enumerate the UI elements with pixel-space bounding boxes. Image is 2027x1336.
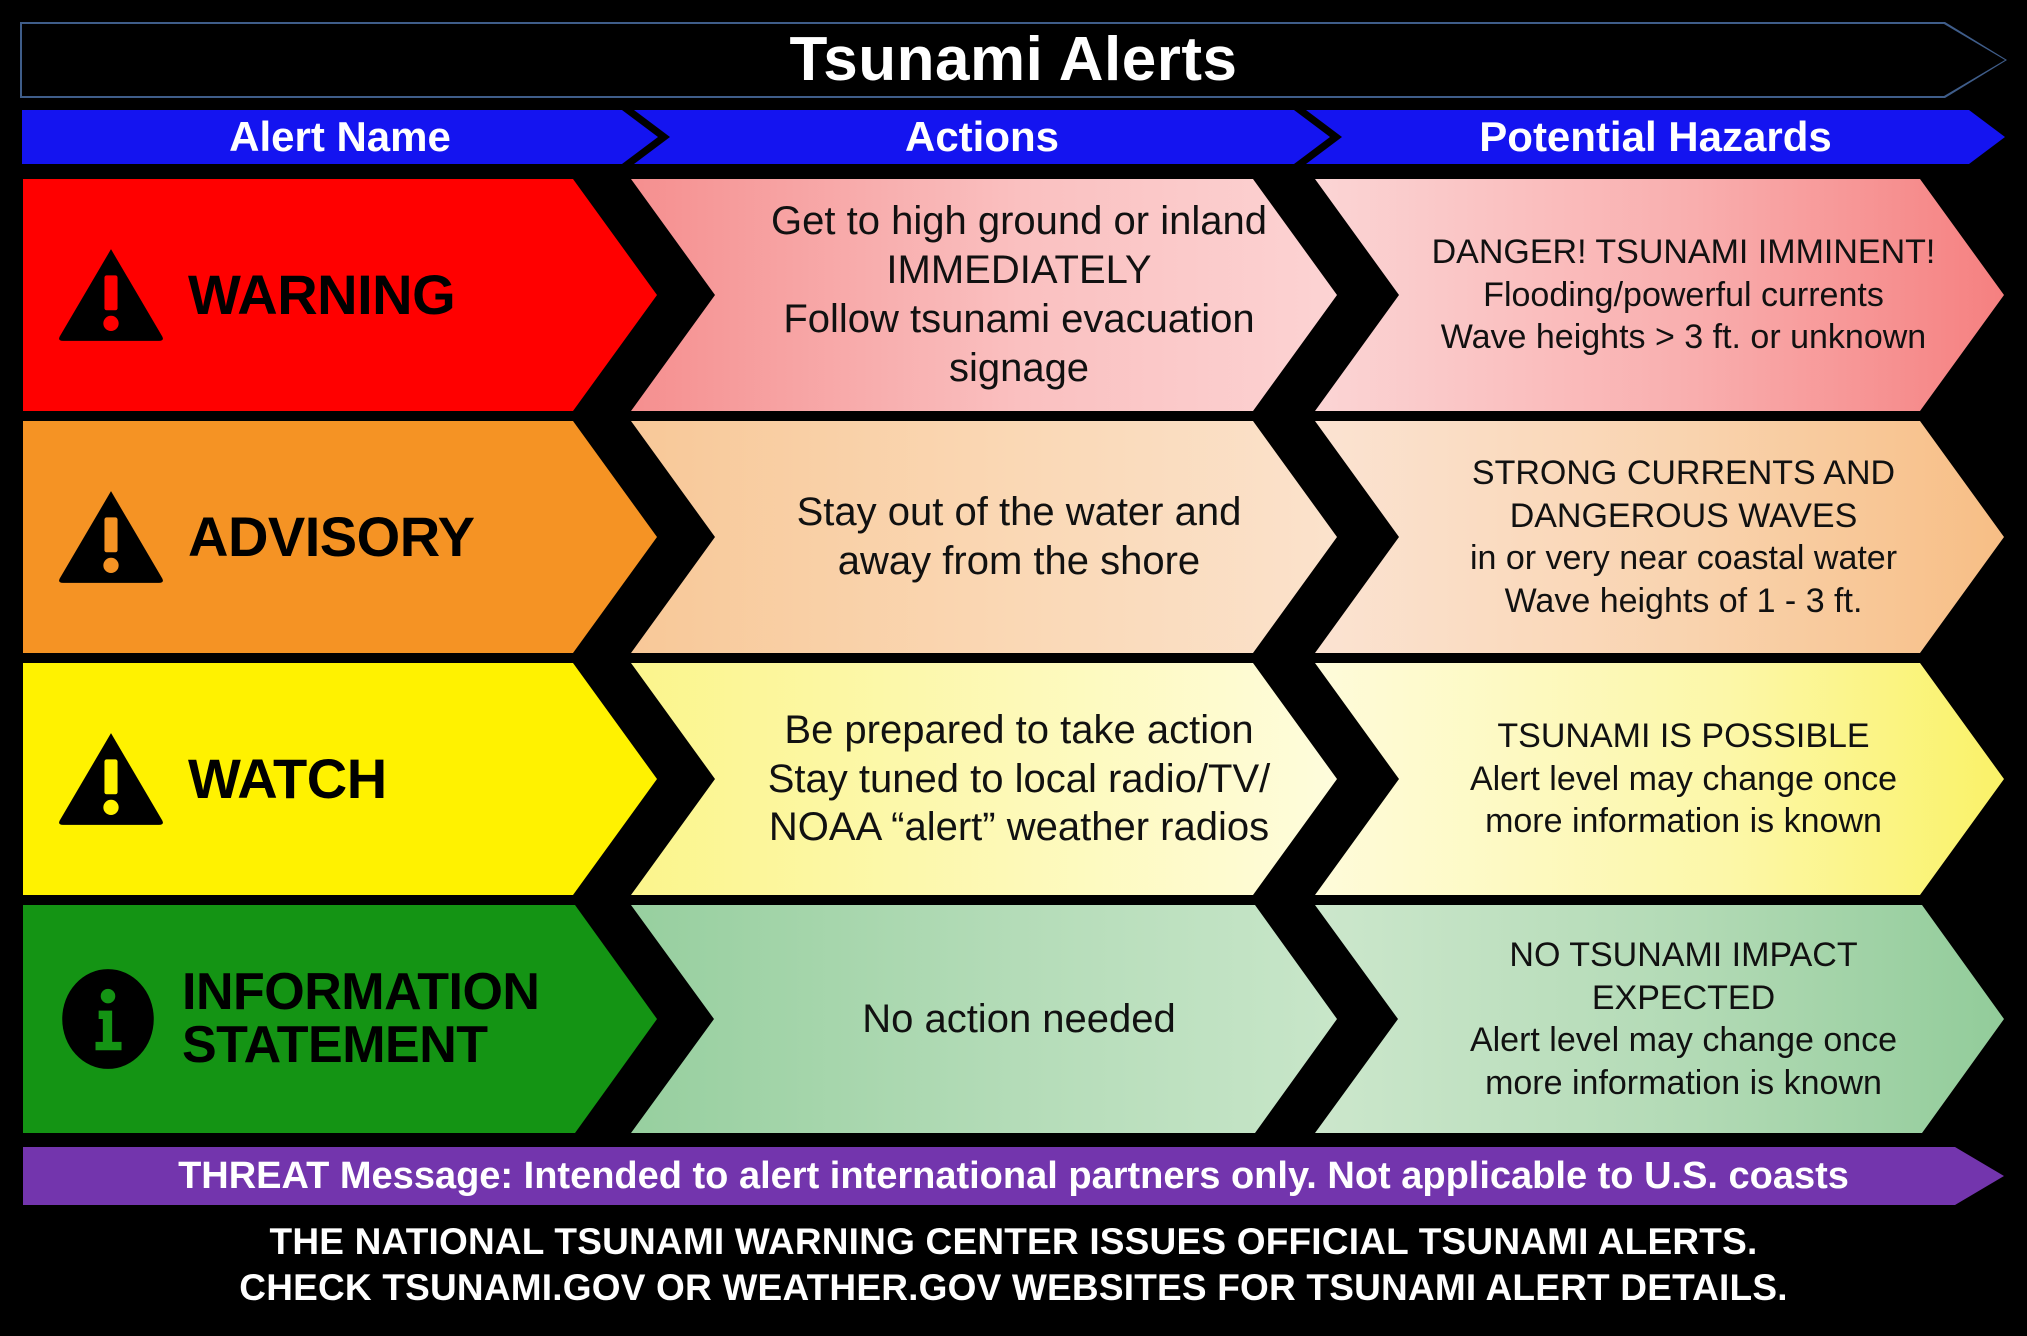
hazards-line: Flooding/powerful currents <box>1416 274 1951 317</box>
alert-name-label: WARNING <box>188 266 455 323</box>
column-header-actions: Actions <box>632 108 1332 166</box>
actions-line: Stay out of the water and <box>728 488 1310 537</box>
alert-row: ADVISORYStay out of the water andaway fr… <box>20 418 2007 656</box>
column-header-potential-hazards: Potential Hazards <box>1304 108 2007 166</box>
hazards-cell: NO TSUNAMI IMPACT EXPECTEDAlert level ma… <box>1312 902 2007 1136</box>
actions-inner: Be prepared to take actionStay tuned to … <box>628 706 1340 852</box>
footer-text: THE NATIONAL TSUNAMI WARNING CENTER ISSU… <box>239 1219 1787 1312</box>
warning-triangle-icon <box>56 247 166 343</box>
alert-name-cell: ADVISORY <box>20 418 660 656</box>
hazards-line: more information is known <box>1416 1062 1951 1105</box>
alert-row: INFORMATIONSTATEMENTNo action neededNO T… <box>20 902 2007 1136</box>
actions-line: Be prepared to take action <box>728 706 1310 755</box>
actions-text: No action needed <box>628 995 1340 1044</box>
alert-name-label: ADVISORY <box>188 508 474 565</box>
alert-name-inner: WATCH <box>20 731 660 827</box>
hazards-inner: DANGER! TSUNAMI IMMINENT!Flooding/powerf… <box>1312 231 2007 359</box>
actions-line: away from the shore <box>728 537 1310 586</box>
actions-line: Follow tsunami evacuation signage <box>728 295 1310 393</box>
footer-banner: THE NATIONAL TSUNAMI WARNING CENTER ISSU… <box>20 1216 2007 1314</box>
hazards-text: STRONG CURRENTS ANDDANGEROUS WAVESin or … <box>1312 452 2007 622</box>
hazards-inner: TSUNAMI IS POSSIBLEAlert level may chang… <box>1312 715 2007 843</box>
hazards-line: Alert level may change once <box>1416 758 1951 801</box>
column-header-alert-name: Alert Name <box>20 108 660 166</box>
hazards-line: Wave heights > 3 ft. or unknown <box>1416 316 1951 359</box>
information-circle-icon <box>56 967 160 1071</box>
threat-message-text: THREAT Message: Intended to alert intern… <box>178 1157 1849 1195</box>
column-header-row: Alert Name Actions Potential Hazards <box>20 108 2007 166</box>
alert-name-cell: WATCH <box>20 660 660 898</box>
alert-rows-container: WARNINGGet to high ground or inlandIMMED… <box>20 176 2007 1136</box>
alert-name-label: WATCH <box>188 750 387 807</box>
hazards-line: NO TSUNAMI IMPACT EXPECTED <box>1416 934 1951 1019</box>
warning-triangle-icon <box>56 489 166 585</box>
column-header-label: Actions <box>905 116 1059 158</box>
hazards-cell: STRONG CURRENTS ANDDANGEROUS WAVESin or … <box>1312 418 2007 656</box>
actions-line: Stay tuned to local radio/TV/ <box>728 755 1310 804</box>
actions-line: No action needed <box>728 995 1310 1044</box>
hazards-line: DANGEROUS WAVES <box>1416 495 1951 538</box>
actions-inner: No action needed <box>628 995 1340 1044</box>
column-header-label: Potential Hazards <box>1479 116 1831 158</box>
title-banner: Tsunami Alerts <box>20 22 2007 98</box>
warning-triangle-icon <box>56 731 166 827</box>
hazards-line: STRONG CURRENTS AND <box>1416 452 1951 495</box>
page-title: Tsunami Alerts <box>790 29 1238 91</box>
alert-name-inner: INFORMATIONSTATEMENT <box>20 966 660 1072</box>
actions-cell: Get to high ground or inlandIMMEDIATELYF… <box>628 176 1340 414</box>
actions-text: Get to high ground or inlandIMMEDIATELYF… <box>628 197 1340 392</box>
alert-name-inner: WARNING <box>20 247 660 343</box>
hazards-line: TSUNAMI IS POSSIBLE <box>1416 715 1951 758</box>
actions-inner: Get to high ground or inlandIMMEDIATELYF… <box>628 197 1340 392</box>
actions-text: Stay out of the water andaway from the s… <box>628 488 1340 586</box>
hazards-line: more information is known <box>1416 800 1951 843</box>
footer-line-1: THE NATIONAL TSUNAMI WARNING CENTER ISSU… <box>239 1219 1787 1265</box>
threat-message-banner: THREAT Message: Intended to alert intern… <box>20 1144 2007 1208</box>
actions-line: Get to high ground or inland <box>728 197 1310 246</box>
hazards-line: DANGER! TSUNAMI IMMINENT! <box>1416 231 1951 274</box>
hazards-text: NO TSUNAMI IMPACT EXPECTEDAlert level ma… <box>1312 934 2007 1104</box>
actions-line: NOAA “alert” weather radios <box>728 803 1310 852</box>
alert-name-label: INFORMATIONSTATEMENT <box>182 966 539 1072</box>
hazards-line: Wave heights of 1 - 3 ft. <box>1416 580 1951 623</box>
actions-text: Be prepared to take actionStay tuned to … <box>628 706 1340 852</box>
hazards-inner: NO TSUNAMI IMPACT EXPECTEDAlert level ma… <box>1312 934 2007 1104</box>
alert-row: WARNINGGet to high ground or inlandIMMED… <box>20 176 2007 414</box>
hazards-text: DANGER! TSUNAMI IMMINENT!Flooding/powerf… <box>1312 231 2007 359</box>
hazards-line: Alert level may change once <box>1416 1019 1951 1062</box>
alert-row: WATCHBe prepared to take actionStay tune… <box>20 660 2007 898</box>
actions-line: IMMEDIATELY <box>728 246 1310 295</box>
hazards-cell: TSUNAMI IS POSSIBLEAlert level may chang… <box>1312 660 2007 898</box>
actions-cell: No action needed <box>628 902 1340 1136</box>
actions-inner: Stay out of the water andaway from the s… <box>628 488 1340 586</box>
column-header-label: Alert Name <box>229 116 451 158</box>
alert-name-cell: WARNING <box>20 176 660 414</box>
footer-line-2: CHECK TSUNAMI.GOV OR WEATHER.GOV WEBSITE… <box>239 1265 1787 1311</box>
alert-name-inner: ADVISORY <box>20 489 660 585</box>
actions-cell: Stay out of the water andaway from the s… <box>628 418 1340 656</box>
tsunami-alerts-infographic: Tsunami Alerts Alert Name Actions Potent… <box>0 0 2027 1336</box>
hazards-cell: DANGER! TSUNAMI IMMINENT!Flooding/powerf… <box>1312 176 2007 414</box>
hazards-line: in or very near coastal water <box>1416 537 1951 580</box>
hazards-inner: STRONG CURRENTS ANDDANGEROUS WAVESin or … <box>1312 452 2007 622</box>
actions-cell: Be prepared to take actionStay tuned to … <box>628 660 1340 898</box>
hazards-text: TSUNAMI IS POSSIBLEAlert level may chang… <box>1312 715 2007 843</box>
alert-name-cell: INFORMATIONSTATEMENT <box>20 902 660 1136</box>
